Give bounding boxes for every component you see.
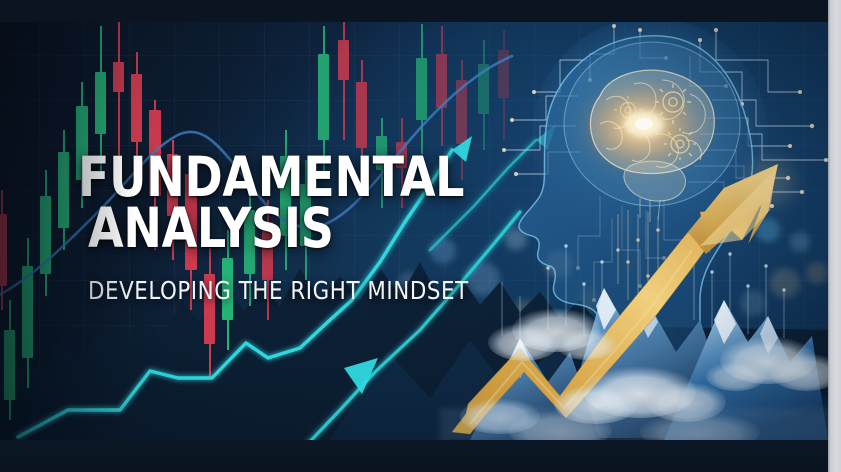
bottom-letterbox-band (0, 440, 841, 472)
right-edge-strip (828, 0, 841, 472)
headline-line-2: ANALYSIS (88, 203, 465, 254)
headline-block: FUNDAMENTAL ANALYSIS DEVELOPING THE RIGH… (78, 152, 493, 305)
top-letterbox-band (0, 0, 841, 22)
subheadline: DEVELOPING THE RIGHT MINDSET (88, 276, 473, 305)
promotional-banner: FUNDAMENTAL ANALYSIS DEVELOPING THE RIGH… (0, 0, 841, 472)
